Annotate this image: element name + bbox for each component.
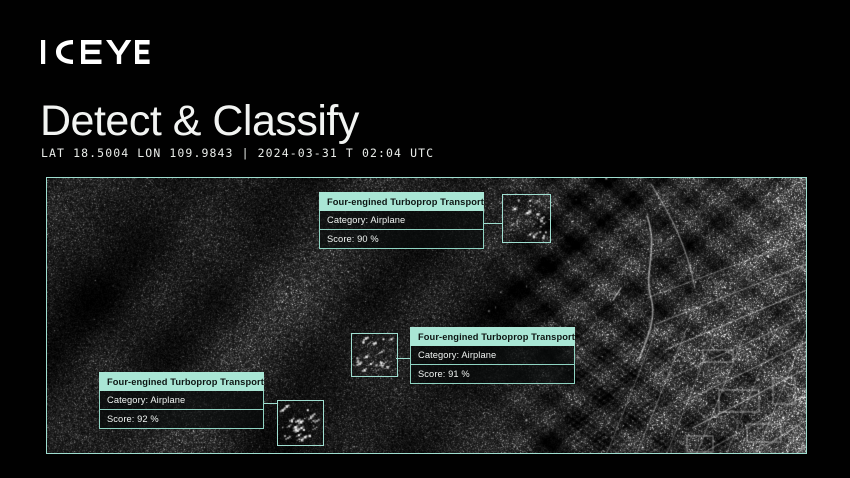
detection-leader-line	[264, 403, 277, 404]
detection-info-card[interactable]: Four-engined Turboprop TransportCategory…	[99, 372, 264, 429]
detection-score-row: Score: 92 %	[99, 410, 264, 429]
detection-class-label: Four-engined Turboprop Transport	[319, 192, 484, 211]
page-title: Detect & Classify	[40, 96, 359, 146]
detection-bounding-box[interactable]	[277, 400, 324, 446]
detection-bounding-box[interactable]	[502, 194, 551, 243]
detection-info-card[interactable]: Four-engined Turboprop TransportCategory…	[319, 192, 484, 249]
sar-image-panel[interactable]: Four-engined Turboprop TransportCategory…	[46, 177, 807, 454]
detection-class-label: Four-engined Turboprop Transport	[410, 327, 575, 346]
detection-score-row: Score: 90 %	[319, 230, 484, 249]
iceye-logo	[40, 38, 150, 66]
detection-leader-line	[484, 223, 502, 224]
detection-info-card[interactable]: Four-engined Turboprop TransportCategory…	[410, 327, 575, 384]
detection-class-label: Four-engined Turboprop Transport	[99, 372, 264, 391]
detection-score-row: Score: 91 %	[410, 365, 575, 384]
detection-leader-line	[396, 358, 410, 359]
detection-category-row: Category: Airplane	[410, 346, 575, 365]
slide-root: Detect & Classify LAT 18.5004 LON 109.98…	[0, 0, 850, 478]
geo-timestamp-meta: LAT 18.5004 LON 109.9843 | 2024-03-31 T …	[41, 146, 434, 160]
detection-bounding-box[interactable]	[351, 333, 398, 377]
detection-category-row: Category: Airplane	[319, 211, 484, 230]
detection-category-row: Category: Airplane	[99, 391, 264, 410]
